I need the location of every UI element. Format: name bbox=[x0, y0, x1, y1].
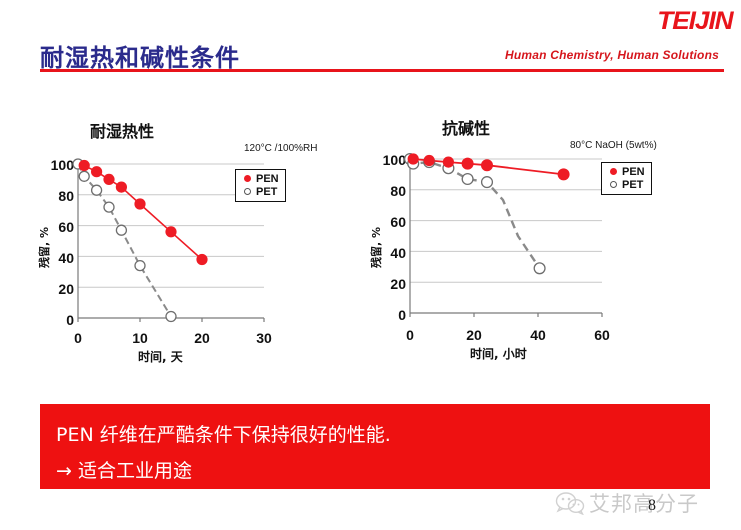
brand-tagline: Human Chemistry, Human Solutions bbox=[505, 48, 719, 62]
watermark: 艾邦高分子 bbox=[555, 483, 730, 523]
legend-item-pen: PEN bbox=[240, 172, 279, 185]
legend-alkali: PEN PET bbox=[601, 162, 652, 195]
watermark-text: 艾邦高分子 bbox=[589, 488, 699, 518]
legend-item-pet: PET bbox=[606, 178, 645, 191]
chart-humid-heat: 耐湿热性 120°C /100%RH 残留, % 100 80 60 40 20… bbox=[22, 108, 352, 363]
header-divider bbox=[40, 69, 724, 72]
chart-alkali-resistance: 抗碱性 80°C NaOH (5wt%) 残留, % 100 80 60 40 … bbox=[366, 108, 706, 363]
pen-marker-icon bbox=[606, 168, 620, 175]
page-title: 耐湿热和碱性条件 bbox=[40, 38, 240, 73]
wechat-icon bbox=[555, 491, 585, 515]
pet-marker-icon bbox=[240, 188, 254, 195]
legend-label-pen: PEN bbox=[256, 173, 279, 185]
conclusion-banner: PEN 纤维在严酷条件下保持很好的性能. → 适合工业用途 bbox=[40, 404, 710, 489]
legend-label-pen: PEN bbox=[622, 166, 645, 178]
legend-humid-heat: PEN PET bbox=[235, 169, 286, 202]
slide-root: TEIJIN 耐湿热和碱性条件 Human Chemistry, Human S… bbox=[0, 0, 741, 530]
legend-item-pet: PET bbox=[240, 185, 279, 198]
banner-line-1: PEN 纤维在严酷条件下保持很好的性能. bbox=[56, 420, 391, 447]
pen-marker-icon bbox=[240, 175, 254, 182]
teijin-wordmark: TEIJIN bbox=[657, 9, 732, 34]
banner-line-2: → 适合工业用途 bbox=[56, 456, 192, 483]
legend-label-pet: PET bbox=[256, 186, 277, 198]
legend-item-pen: PEN bbox=[606, 165, 645, 178]
plot-area-alkali bbox=[366, 108, 706, 363]
pet-marker-icon bbox=[606, 181, 620, 188]
teijin-logo: TEIJIN bbox=[591, 9, 731, 33]
page-number: 8 bbox=[648, 497, 656, 515]
plot-area-humid-heat bbox=[22, 108, 352, 363]
legend-label-pet: PET bbox=[622, 179, 643, 191]
